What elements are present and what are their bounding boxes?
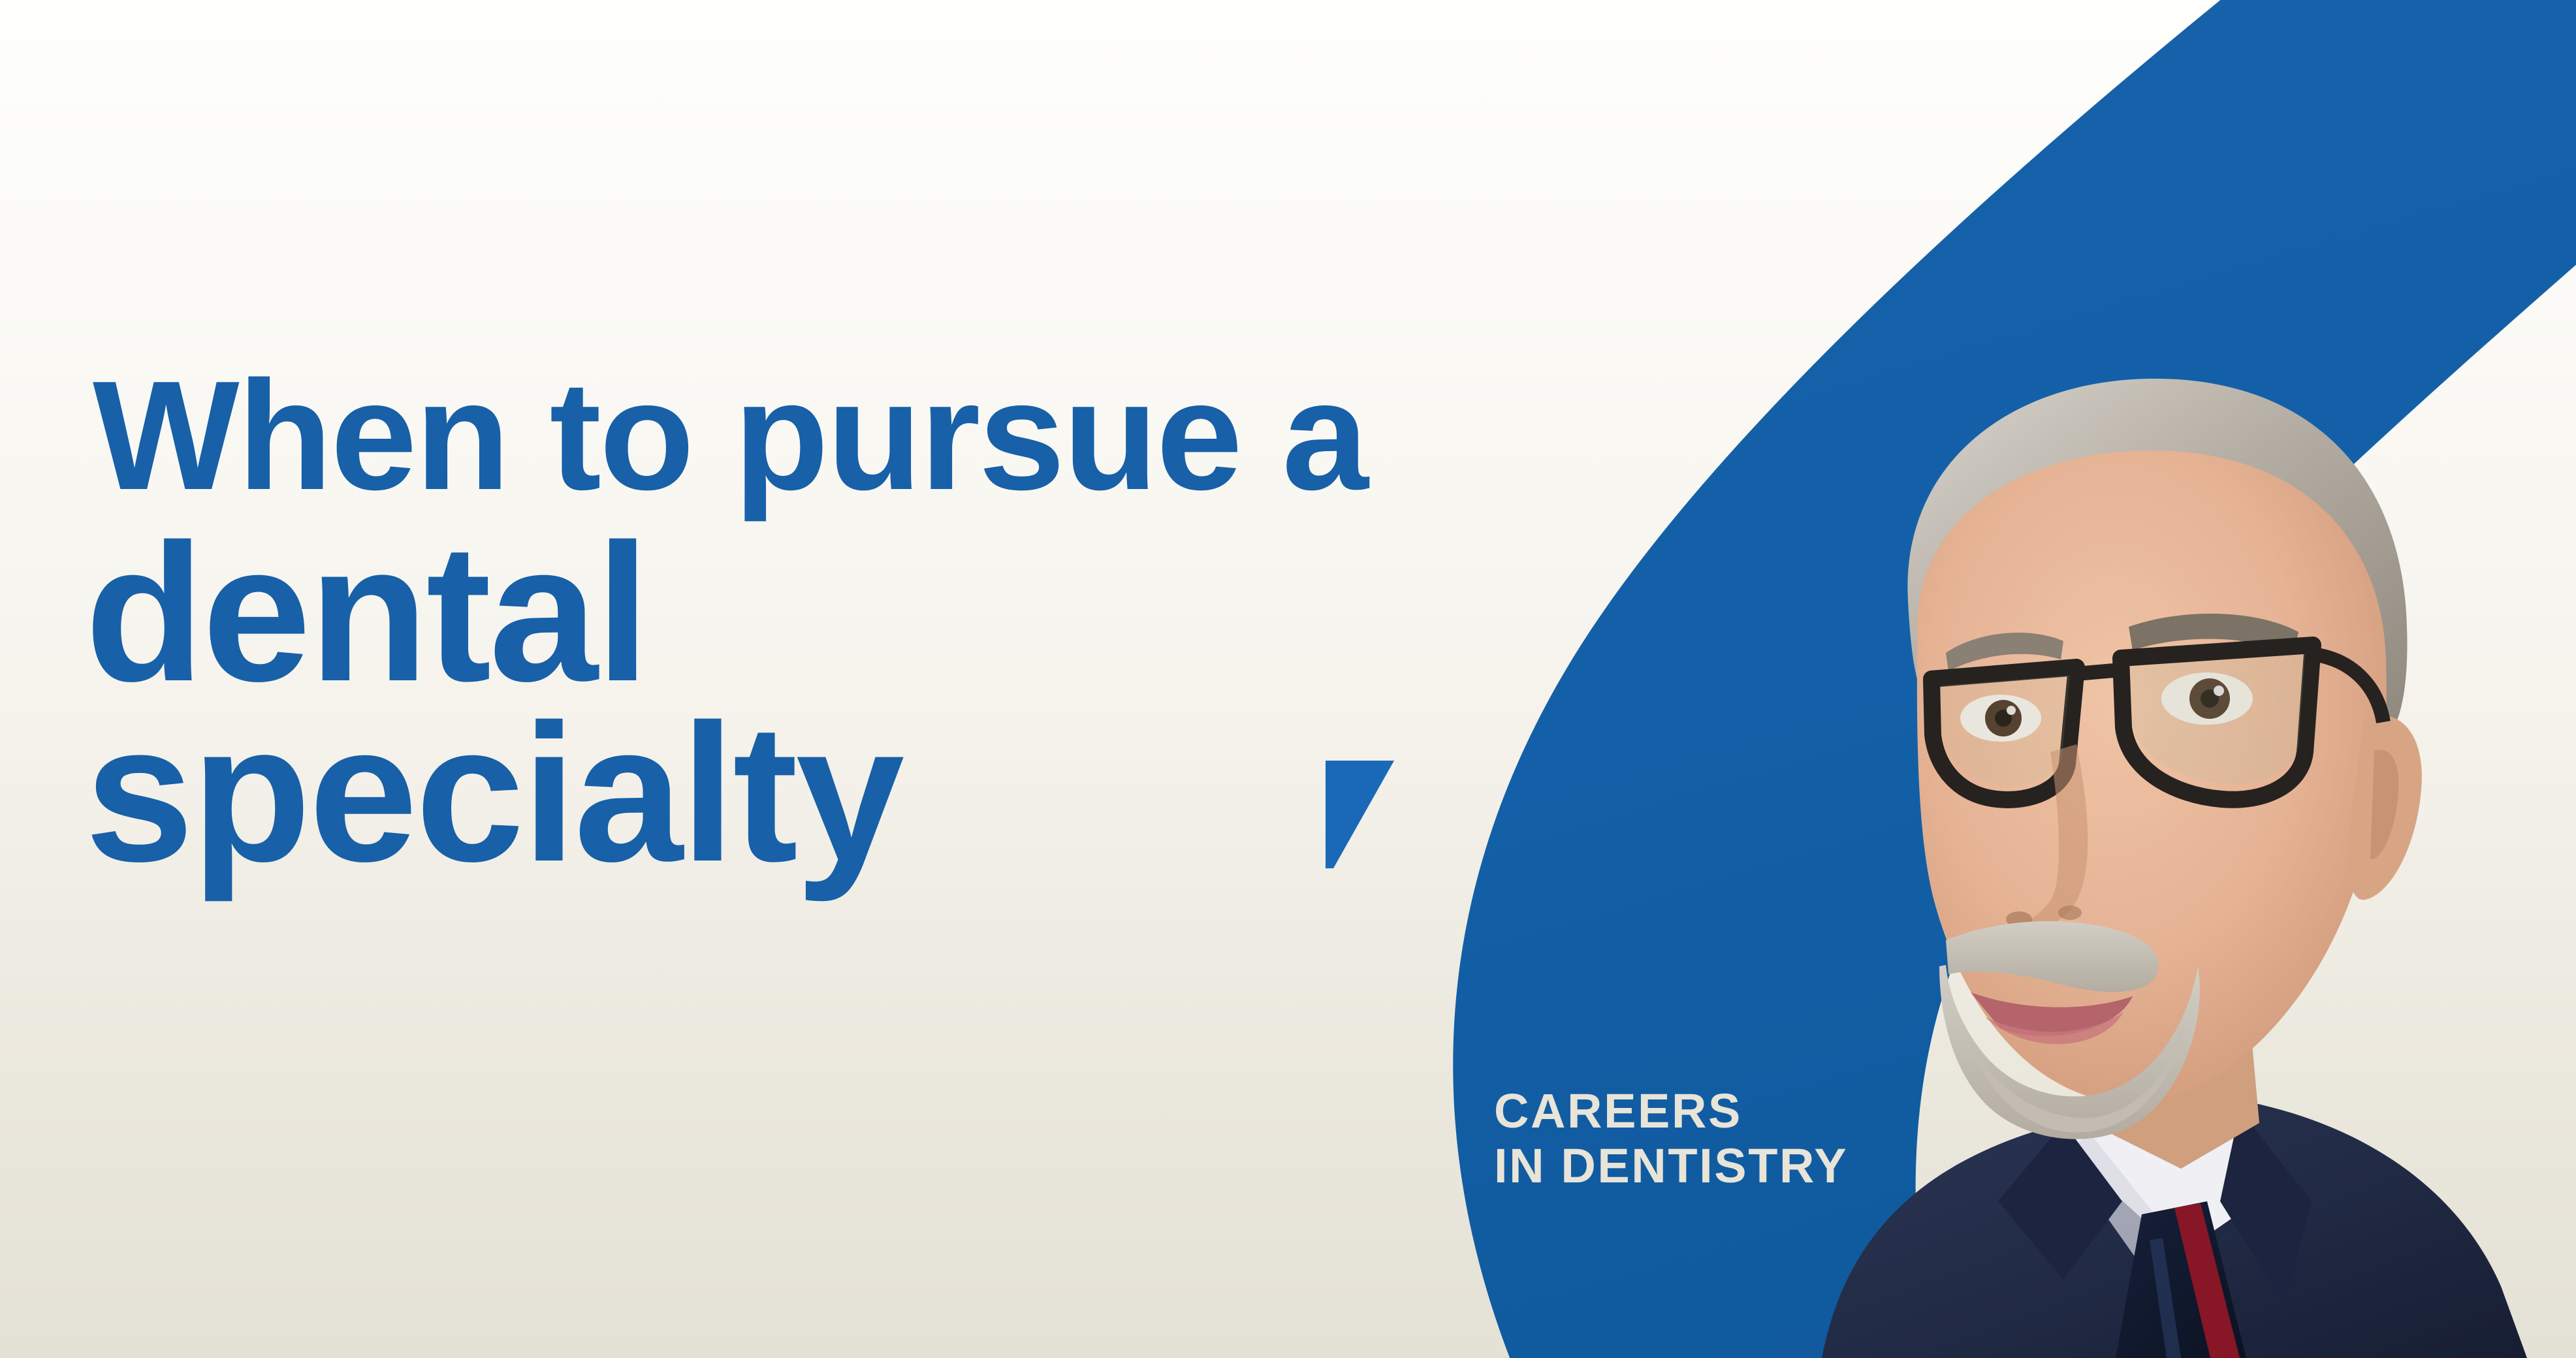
headline-block: When to pursue a dental specialty	[85, 354, 1587, 891]
headline-line-2: dental	[85, 514, 1587, 710]
banner: When to pursue a dental specialty CAREER…	[0, 0, 2576, 1358]
headline-line-3: specialty	[85, 695, 1587, 891]
kicker-block: CAREERS IN DENTISTRY	[1494, 1084, 1848, 1193]
glasses-bridge	[2076, 670, 2121, 674]
portrait-photo	[1724, 353, 2576, 1358]
headline-line-1: When to pursue a	[93, 354, 1587, 518]
nostril-right	[2058, 906, 2082, 920]
kicker-line-2: IN DENTISTRY	[1494, 1139, 1848, 1193]
kicker-line-1: CAREERS	[1494, 1084, 1848, 1139]
